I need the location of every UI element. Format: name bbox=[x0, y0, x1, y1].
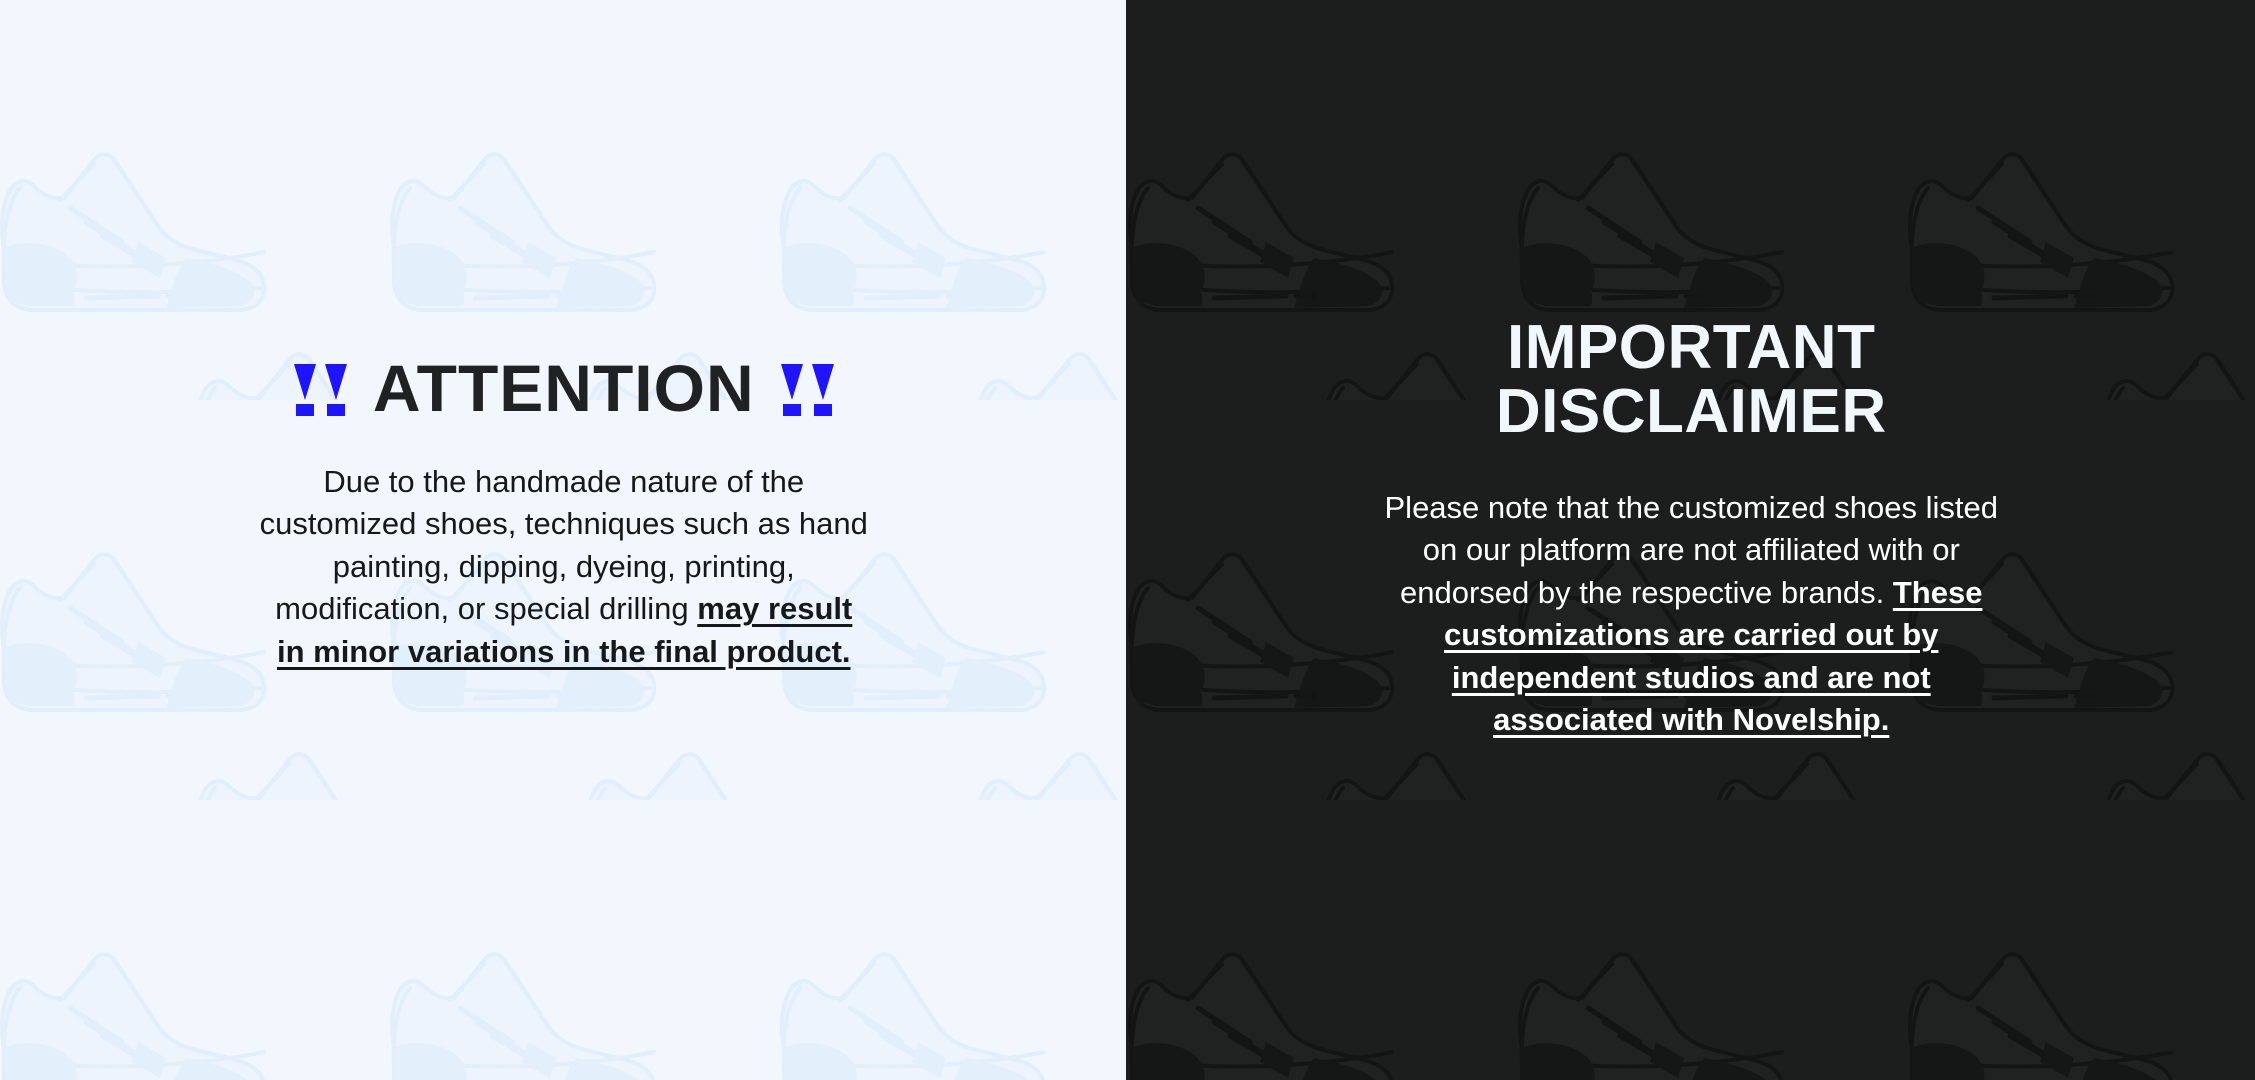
disclaimer-heading-line-1: IMPORTANT bbox=[1507, 313, 1875, 382]
attention-content: ATTENTION Due to the handmade nature of … bbox=[0, 0, 1128, 673]
disclaimer-heading-line-2: DISCLAIMER bbox=[1496, 377, 1887, 446]
attention-panel: ATTENTION Due to the handmade nature of … bbox=[0, 0, 1128, 1080]
panel-divider bbox=[1126, 0, 1128, 1080]
disclaimer-panel: IMPORTANT DISCLAIMER Please note that th… bbox=[1128, 0, 2255, 1080]
disclaimer-body: Please note that the customized shoes li… bbox=[1373, 487, 2009, 742]
disclaimer-content: IMPORTANT DISCLAIMER Please note that th… bbox=[1128, 0, 2255, 742]
disclaimer-heading: IMPORTANT DISCLAIMER bbox=[1496, 316, 1887, 445]
double-exclamation-icon-right bbox=[781, 364, 834, 416]
customization-notice-banner: ATTENTION Due to the handmade nature of … bbox=[0, 0, 2255, 1080]
attention-heading: ATTENTION bbox=[294, 355, 834, 421]
double-exclamation-icon-left bbox=[294, 364, 347, 416]
attention-body: Due to the handmade nature of the custom… bbox=[259, 461, 869, 673]
attention-heading-text: ATTENTION bbox=[373, 355, 755, 421]
